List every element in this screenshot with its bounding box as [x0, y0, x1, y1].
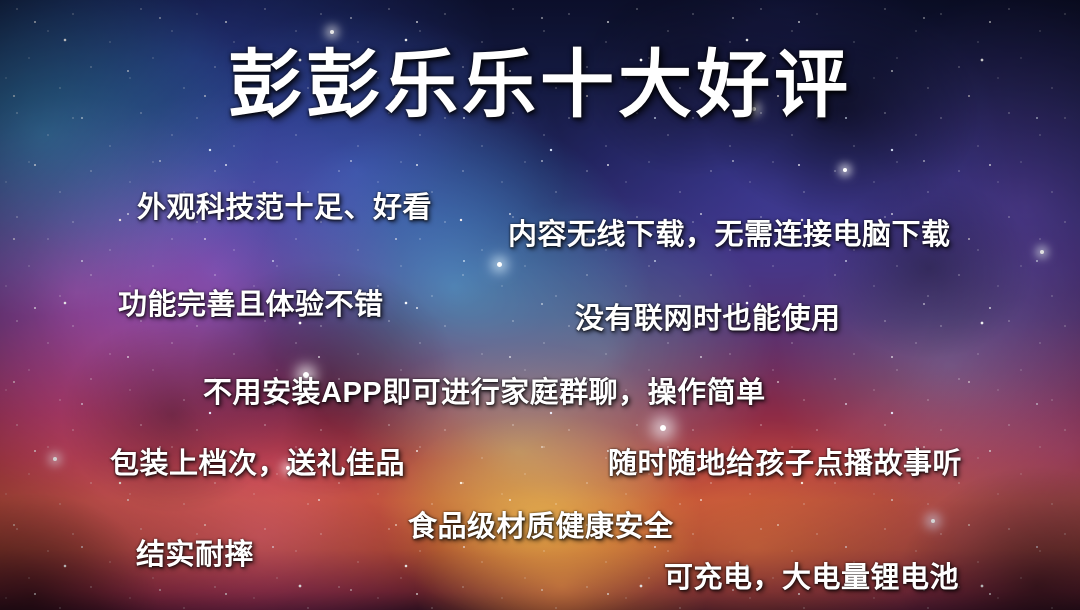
poster-canvas: 彭彭乐乐十大好评 外观科技范十足、好看 内容无线下载，无需连接电脑下载 功能完善… [0, 0, 1080, 610]
bright-star-icon [1040, 250, 1044, 254]
bright-star-icon [497, 262, 502, 267]
praise-point-3: 功能完善且体验不错 [118, 281, 384, 323]
praise-point-7: 随时随地给孩子点播故事听 [608, 440, 962, 482]
poster-title: 彭彭乐乐十大好评 [228, 48, 852, 122]
bright-star-icon [330, 30, 334, 34]
praise-point-2: 内容无线下载，无需连接电脑下载 [508, 211, 951, 253]
praise-point-1: 外观科技范十足、好看 [137, 184, 432, 226]
bright-star-icon [53, 457, 57, 461]
praise-point-10: 可充电，大电量锂电池 [664, 554, 959, 596]
praise-point-8: 食品级材质健康安全 [408, 503, 674, 545]
praise-point-4: 没有联网时也能使用 [575, 295, 841, 337]
bright-star-icon [843, 168, 847, 172]
bright-star-icon [931, 519, 935, 523]
bright-star-icon [660, 425, 666, 431]
praise-point-9: 结实耐摔 [136, 531, 254, 573]
praise-point-5: 不用安装APP即可进行家庭群聊，操作简单 [203, 369, 766, 411]
praise-point-6: 包装上档次，送礼佳品 [110, 440, 405, 482]
